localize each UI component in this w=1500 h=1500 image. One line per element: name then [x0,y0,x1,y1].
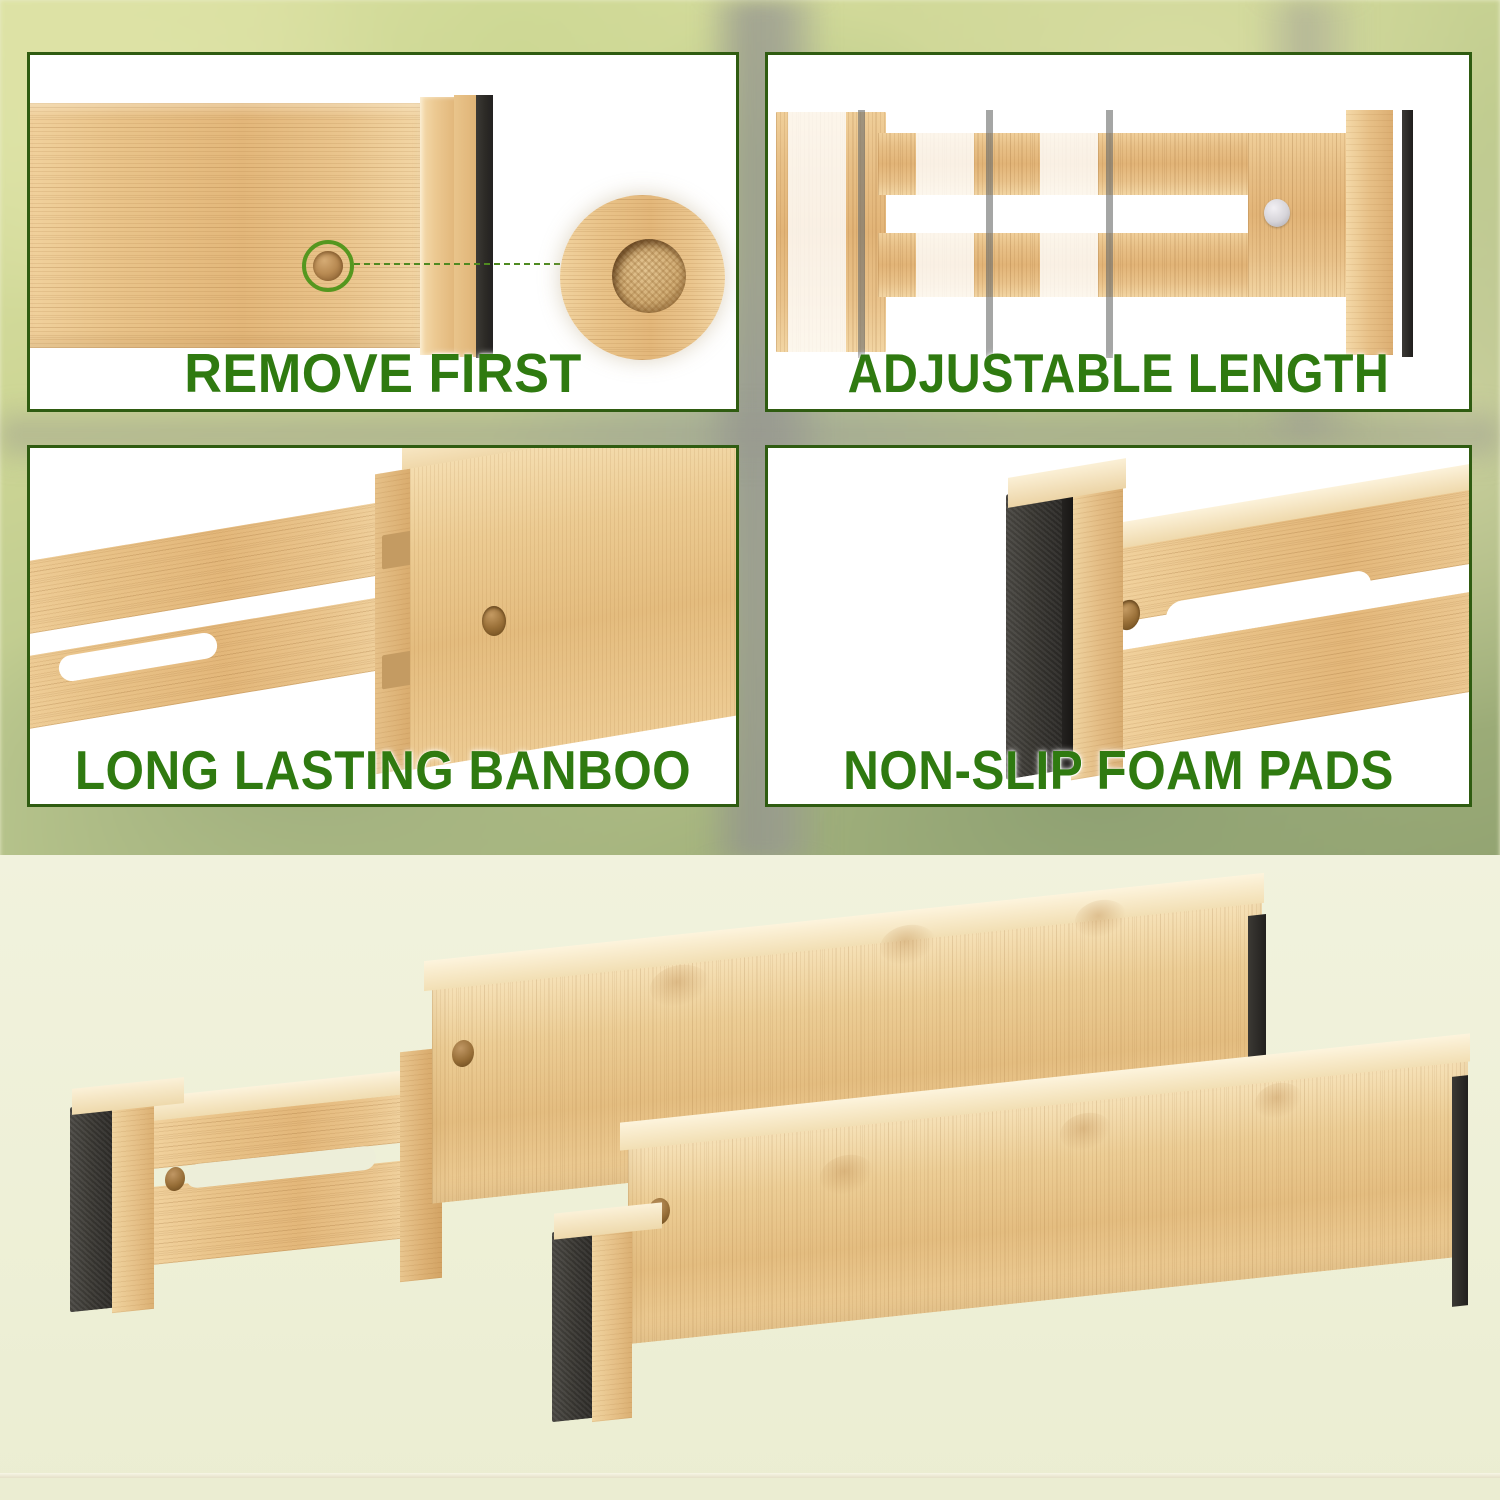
infographic-canvas: REMOVE FIRST ADJUSTABLE LENGTH [0,0,1500,1500]
ghost-position-line [986,110,993,358]
slot-rounded-end [1198,195,1238,233]
bamboo-end-post-side [454,95,478,357]
feature-panel-remove-first: REMOVE FIRST [27,52,739,412]
feature-caption-adjustable-length: ADJUSTABLE LENGTH [810,346,1427,401]
feature-caption-remove-first: REMOVE FIRST [48,346,719,401]
foam-pad [476,95,493,358]
joint-notch-lower [382,650,412,689]
screw-hole-magnified [612,239,686,313]
bamboo-right-post [1346,110,1393,355]
bamboo-end-cap [112,1097,154,1313]
magnifier-callout-icon [560,195,725,360]
foam-pad [552,1228,594,1422]
bamboo-end-cap [592,1222,632,1422]
hero-product-photo [0,855,1500,1500]
bamboo-end-post [1071,482,1123,781]
feature-grid: REMOVE FIRST ADJUSTABLE LENGTH [0,0,1500,860]
bamboo-board [30,103,425,348]
bamboo-end-post [420,97,458,355]
joint-notch-upper [382,530,412,569]
floor-strip [0,1476,1500,1500]
ghost-position-line [1106,110,1113,358]
bamboo-main-board [410,448,739,770]
ghost-position-line [858,110,865,358]
ghost-position-marker [916,110,974,358]
ghost-position-marker [1040,110,1098,358]
screw-head [1264,199,1290,227]
feature-panel-long-lasting-bamboo: LONG LASTING BANBOO [27,445,739,807]
feature-caption-long-lasting-bamboo: LONG LASTING BANBOO [65,743,700,798]
feature-panel-adjustable-length: ADJUSTABLE LENGTH [765,52,1472,412]
circle-highlight-icon [302,240,354,292]
screw-hole [482,606,506,636]
foam-pad [70,1103,114,1313]
bamboo-main-board-end-foam [1452,1075,1468,1307]
foam-pad [1006,485,1062,779]
ghost-position-marker [788,110,846,358]
feature-panel-non-slip-foam-pads: NON-SLIP FOAM PADS [765,445,1472,807]
foam-pad-right [1402,110,1413,357]
feature-caption-non-slip-foam-pads: NON-SLIP FOAM PADS [803,743,1434,798]
